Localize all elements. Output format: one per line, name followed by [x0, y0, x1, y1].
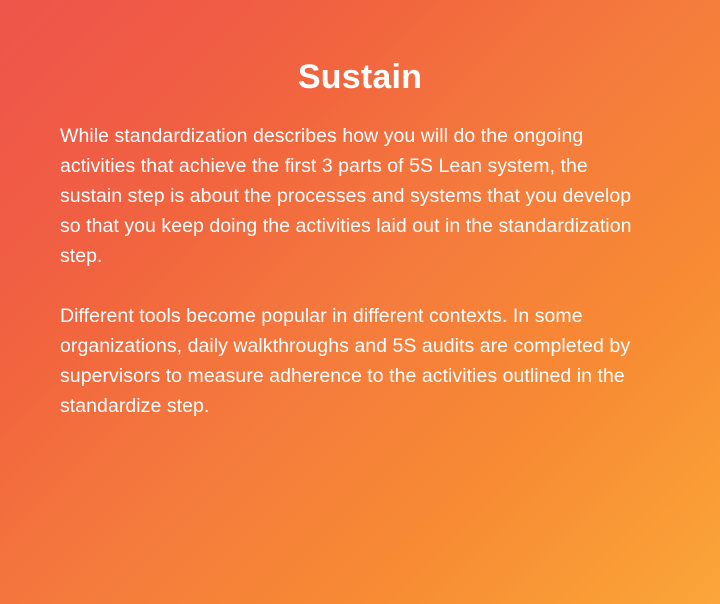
body-paragraph: Different tools become popular in differ… — [60, 301, 652, 421]
slide-content: Sustain While standardization describes … — [0, 0, 720, 421]
page-title: Sustain — [60, 0, 660, 97]
slide-body: While standardization describes how you … — [60, 121, 652, 421]
body-paragraph: While standardization describes how you … — [60, 121, 652, 271]
slide-canvas: Sustain While standardization describes … — [0, 0, 720, 604]
